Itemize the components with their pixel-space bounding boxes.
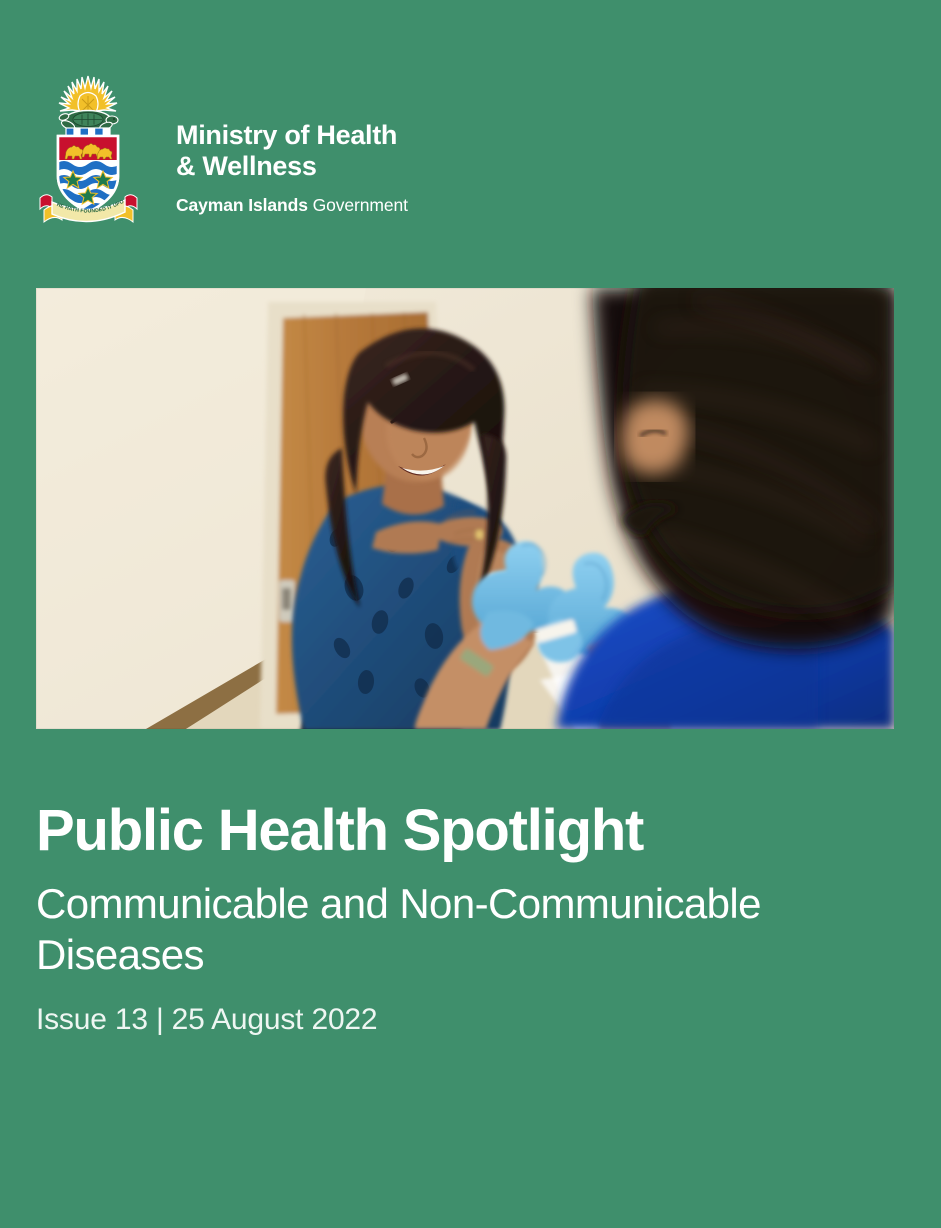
ministry-name-line-2: & Wellness: [176, 151, 408, 182]
hero-photo: [36, 288, 894, 729]
page-subtitle: Communicable and Non-Communicable Diseas…: [36, 878, 866, 980]
cayman-islands-coat-of-arms-icon: HE HATH FOUNDED IT UPON THE SEAS: [36, 72, 141, 230]
government-line: Cayman Islands Government: [176, 195, 408, 215]
issue-date-line: Issue 13 | 25 August 2022: [36, 1002, 896, 1038]
ministry-logo-text: Ministry of Health & Wellness Cayman Isl…: [176, 72, 408, 215]
cover-title-block: Public Health Spotlight Communicable and…: [36, 800, 896, 1038]
government-line-bold: Cayman Islands: [176, 195, 308, 215]
page-title: Public Health Spotlight: [36, 800, 896, 862]
hero-photo-illustration: [36, 288, 894, 729]
ministry-logo-lockup: HE HATH FOUNDED IT UPON THE SEAS Ministr…: [36, 72, 408, 230]
cover-page: HE HATH FOUNDED IT UPON THE SEAS Ministr…: [0, 0, 941, 1228]
government-line-regular: Government: [313, 195, 408, 215]
ministry-name-line-1: Ministry of Health: [176, 120, 408, 151]
